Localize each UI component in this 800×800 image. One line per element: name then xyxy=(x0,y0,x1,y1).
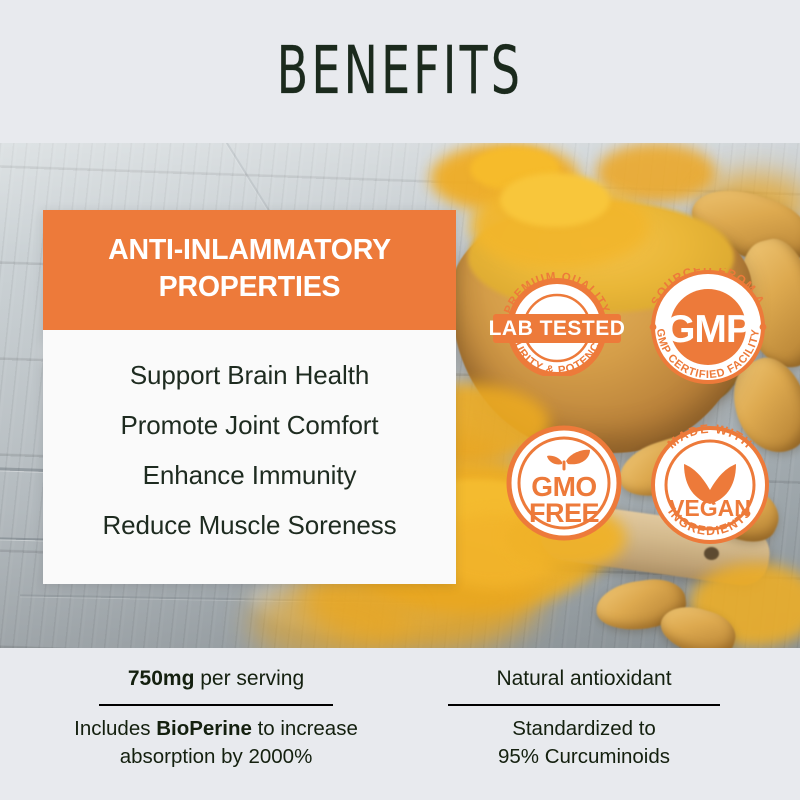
claim-dosage: 750mg per serving Includes BioPerine to … xyxy=(36,664,396,771)
claim-sub-strong: BioPerine xyxy=(156,717,252,740)
claim-divider xyxy=(448,704,720,706)
card-heading-line-1: ANTI-INLAMMATORY xyxy=(61,232,438,269)
claim-headline: 750mg per serving xyxy=(36,664,396,694)
badge-gmo-free: GMO FREE xyxy=(505,424,623,542)
benefits-card: ANTI-INLAMMATORY PROPERTIES Support Brai… xyxy=(43,210,456,584)
benefit-item: Reduce Muscle Soreness xyxy=(57,500,442,550)
claim-headline-rest: per serving xyxy=(194,667,304,690)
claims-section: 750mg per serving Includes BioPerine to … xyxy=(0,648,800,800)
badge-vegan: MADE WITH INGREDIENTS VEGAN xyxy=(644,420,776,550)
page-title: BENEFITS xyxy=(72,36,728,106)
card-heading: ANTI-INLAMMATORY PROPERTIES xyxy=(43,210,456,330)
claim-sub-line-1: Standardized to xyxy=(404,715,764,743)
badge-center-label: LAB TESTED xyxy=(489,317,626,340)
badge-gmp: SOURCED FROM A GMP CERTIFIED FACILITY GM… xyxy=(640,268,776,386)
claim-headline: Natural antioxidant xyxy=(404,664,764,694)
claim-antioxidant: Natural antioxidant Standardized to 95% … xyxy=(404,664,764,771)
badge-center-label-bottom: FREE xyxy=(529,498,599,528)
turmeric-powder xyxy=(500,173,610,227)
benefits-infographic: BENEFITS xyxy=(0,0,800,800)
badge-center-label: VEGAN xyxy=(669,495,751,521)
benefit-item: Promote Joint Comfort xyxy=(57,400,442,450)
benefit-item: Enhance Immunity xyxy=(57,450,442,500)
claim-sub-line-2: 95% Curcuminoids xyxy=(404,743,764,771)
card-heading-line-2: PROPERTIES xyxy=(61,269,438,306)
claim-sub-prefix: Includes xyxy=(74,717,156,740)
badge-lab-tested: PREMIUM QUALITY PURITY & POTENCY LAB TES… xyxy=(487,272,627,376)
claim-subtext: Includes BioPerine to increase absorptio… xyxy=(36,715,396,771)
claim-headline-strong: 750mg xyxy=(128,667,195,690)
claim-subtext: Standardized to 95% Curcuminoids xyxy=(404,715,764,771)
benefit-item: Support Brain Health xyxy=(57,350,442,400)
header-band: BENEFITS xyxy=(0,0,800,143)
claim-divider xyxy=(99,704,333,706)
badge-center-label: GMP xyxy=(665,308,751,351)
benefits-list: Support Brain Health Promote Joint Comfo… xyxy=(43,330,456,584)
